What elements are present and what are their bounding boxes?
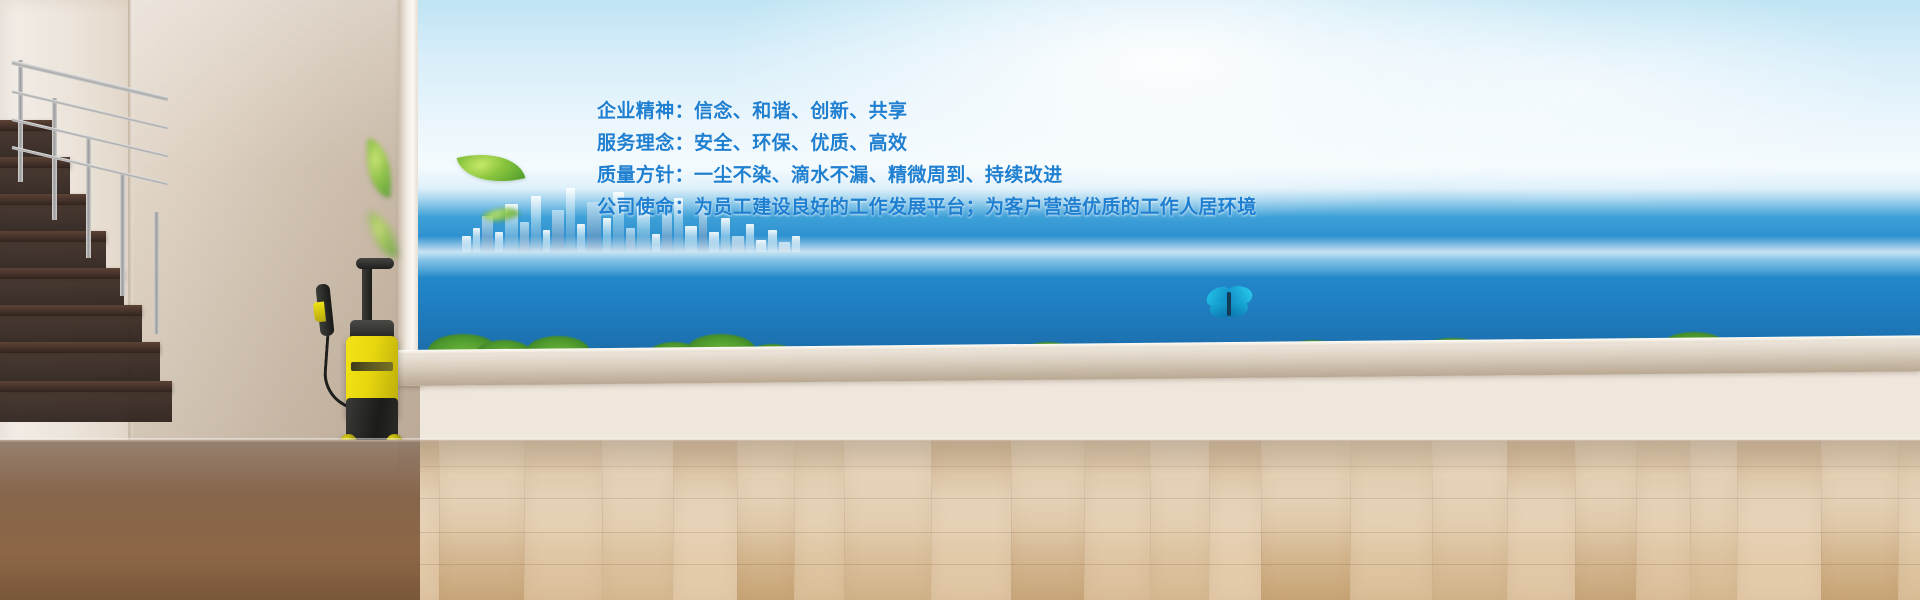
slogan-line-2: 服务理念：安全、环保、优质、高效 (597, 128, 1357, 160)
room-floor (0, 440, 420, 600)
washer-label (351, 362, 393, 371)
washer-handle-grip (356, 258, 394, 269)
washer-trigger (313, 301, 326, 322)
slogan-line-4: 公司使命：为员工建设良好的工作发展平台；为客户营造优质的工作人居环境 (597, 192, 1357, 224)
butterfly-icon (1206, 286, 1252, 326)
slogan-line-3: 质量方针：一尘不染、滴水不漏、精微周到、持续改进 (597, 160, 1357, 192)
slogan-line-1: 企业精神：信念、和谐、创新、共享 (597, 96, 1357, 128)
sea-shimmer (418, 252, 1920, 278)
floor-wall-shadow (398, 440, 1920, 474)
banner-stage: 企业精神：信念、和谐、创新、共享 服务理念：安全、环保、优质、高效 质量方针：一… (0, 0, 1920, 600)
stair-railing (0, 60, 175, 420)
slogan-text-block: 企业精神：信念、和谐、创新、共享 服务理念：安全、环保、优质、高效 质量方针：一… (597, 96, 1357, 224)
pressure-washer (306, 258, 426, 458)
floor-edge (0, 438, 1920, 442)
mural-picture: 企业精神：信念、和谐、创新、共享 服务理念：安全、环保、优质、高效 质量方针：一… (418, 0, 1920, 362)
